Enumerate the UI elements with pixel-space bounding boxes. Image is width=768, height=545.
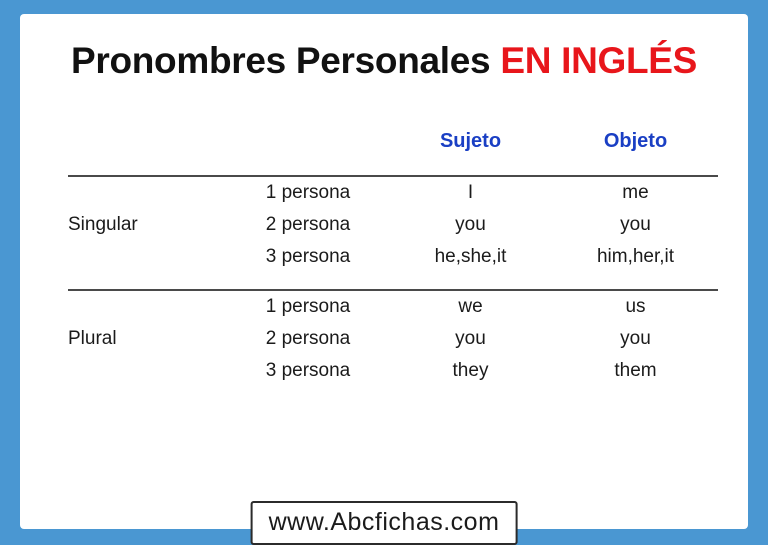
column-header-objeto: Objeto bbox=[553, 130, 718, 176]
sujeto-value: he,she,it bbox=[388, 241, 553, 273]
person-label: 3 persona bbox=[228, 241, 388, 273]
page-title-accent: EN INGLÉS bbox=[500, 40, 697, 81]
pronouns-table-wrapper: Sujeto Objeto Singular 1 persona I me 2 … bbox=[68, 130, 718, 387]
objeto-value: me bbox=[553, 176, 718, 209]
header-row: Sujeto Objeto bbox=[68, 130, 718, 176]
spacer-cell bbox=[228, 273, 388, 290]
person-label: 1 persona bbox=[228, 176, 388, 209]
spacer-cell bbox=[68, 273, 228, 290]
objeto-value: them bbox=[553, 355, 718, 387]
table-row: Plural 1 persona we us bbox=[68, 290, 718, 323]
table-head: Sujeto Objeto bbox=[68, 130, 718, 176]
sujeto-value: you bbox=[388, 323, 553, 355]
objeto-value: you bbox=[553, 209, 718, 241]
table-body: Singular 1 persona I me 2 persona you yo… bbox=[68, 176, 718, 387]
spacer-cell bbox=[553, 273, 718, 290]
site-footer-badge: www.Abcfichas.com bbox=[251, 501, 518, 545]
sujeto-value: you bbox=[388, 209, 553, 241]
table-row: Singular 1 persona I me bbox=[68, 176, 718, 209]
pronouns-table: Sujeto Objeto Singular 1 persona I me 2 … bbox=[68, 130, 718, 387]
person-label: 2 persona bbox=[228, 209, 388, 241]
objeto-value: him,her,it bbox=[553, 241, 718, 273]
column-header-sujeto: Sujeto bbox=[388, 130, 553, 176]
person-label: 2 persona bbox=[228, 323, 388, 355]
page-title-main: Pronombres Personales bbox=[71, 40, 500, 81]
row-spacer bbox=[68, 273, 718, 290]
person-label: 3 persona bbox=[228, 355, 388, 387]
site-url: www.Abcfichas.com bbox=[269, 508, 500, 536]
objeto-value: us bbox=[553, 290, 718, 323]
content-card: Pronombres Personales EN INGLÉS Sujeto O… bbox=[20, 14, 748, 529]
group-label-plural: Plural bbox=[68, 290, 228, 387]
sujeto-value: we bbox=[388, 290, 553, 323]
page-title: Pronombres Personales EN INGLÉS bbox=[20, 40, 748, 82]
sujeto-value: I bbox=[388, 176, 553, 209]
column-header-person bbox=[228, 130, 388, 176]
objeto-value: you bbox=[553, 323, 718, 355]
group-label-singular: Singular bbox=[68, 176, 228, 273]
person-label: 1 persona bbox=[228, 290, 388, 323]
spacer-cell bbox=[388, 273, 553, 290]
column-header-group bbox=[68, 130, 228, 176]
sujeto-value: they bbox=[388, 355, 553, 387]
